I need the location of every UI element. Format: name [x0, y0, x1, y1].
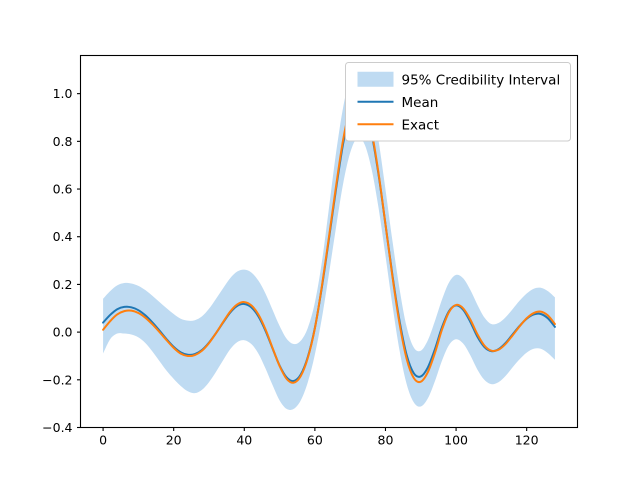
x-tick-label: 60	[307, 433, 323, 448]
figure-canvas: 020406080100120 −0.4−0.20.00.20.40.60.81…	[0, 0, 640, 480]
x-tick-label: 0	[99, 433, 107, 448]
x-tick-label: 40	[236, 433, 252, 448]
y-tick-label: −0.2	[42, 372, 72, 387]
y-tick-label: 0.4	[53, 229, 73, 244]
y-tick-label: 0.0	[53, 325, 73, 340]
x-tick-label: 20	[166, 433, 182, 448]
legend-label: 95% Credibility Interval	[402, 72, 561, 88]
legend-swatch-band	[358, 72, 394, 87]
y-tick-label: 1.0	[53, 86, 73, 101]
y-tick-label: 0.6	[53, 182, 73, 197]
x-tick-label: 120	[515, 433, 539, 448]
y-tick-label: −0.4	[42, 420, 72, 435]
x-tick-label: 100	[444, 433, 468, 448]
legend-label: Exact	[402, 117, 440, 133]
x-axis-ticks: 020406080100120	[99, 428, 539, 448]
y-tick-label: 0.8	[53, 134, 73, 149]
y-tick-label: 0.2	[53, 277, 73, 292]
credibility-interval-plot: 020406080100120 −0.4−0.20.00.20.40.60.81…	[0, 0, 640, 480]
x-tick-label: 80	[378, 433, 394, 448]
legend-label: Mean	[402, 95, 439, 111]
y-axis-ticks: −0.4−0.20.00.20.40.60.81.0	[42, 86, 80, 435]
legend: 95% Credibility IntervalMeanExact	[346, 63, 571, 142]
